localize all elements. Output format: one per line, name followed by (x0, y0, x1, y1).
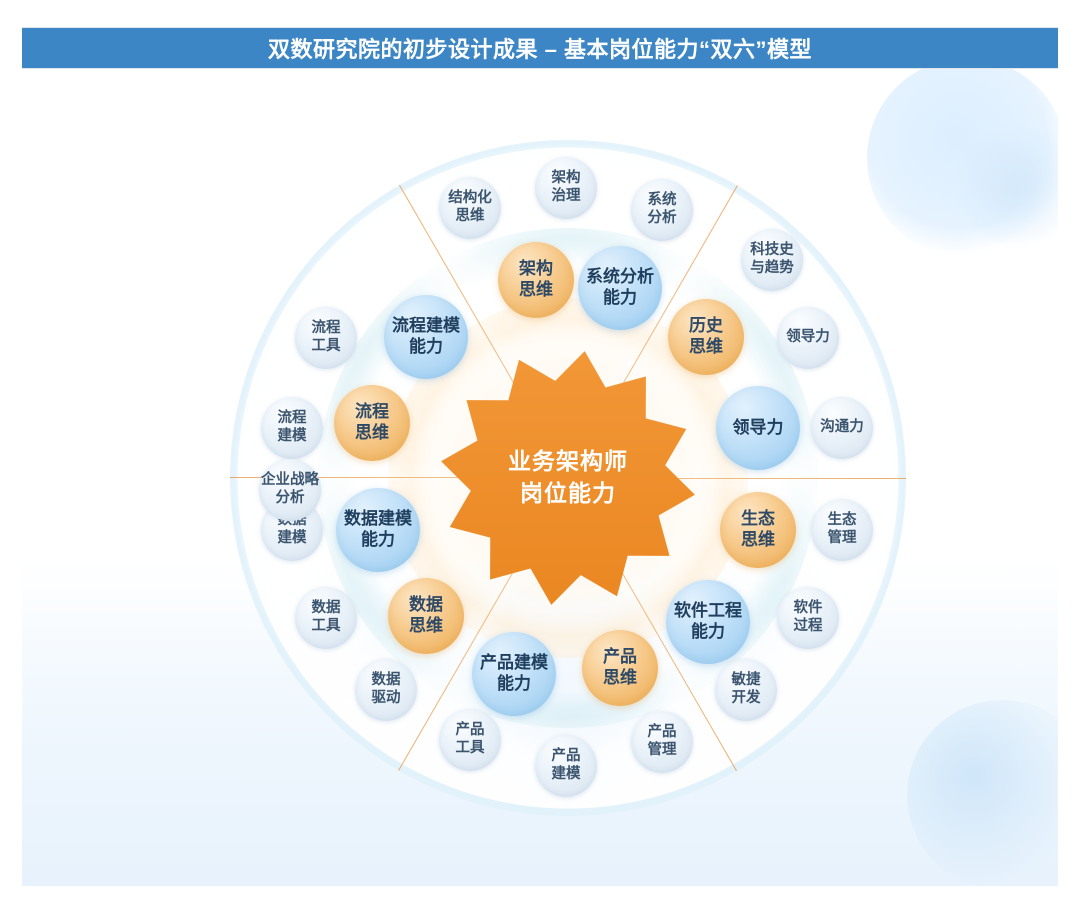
mind-bubble-6[interactable]: 流程 思维 (334, 385, 410, 461)
mind-bubble-layer: 架构 思维历史 思维生态 思维产品 思维数据 思维流程 思维 (230, 140, 906, 816)
mind-bubble-4[interactable]: 产品 思维 (582, 630, 658, 706)
mind-bubble-label: 生态 思维 (739, 509, 777, 550)
six-six-model-diagram: 业务架构师 岗位能力 结构化 思维架构 治理系统 分析科技史 与趋势领导力沟通力… (230, 140, 906, 816)
mind-bubble-label: 流程 思维 (353, 402, 391, 443)
mind-bubble-2[interactable]: 历史 思维 (668, 299, 744, 375)
slide-title-bar: 双数研究院的初步设计成果 – 基本岗位能力“双六”模型 (22, 28, 1058, 68)
decorative-blob-top-right-small (952, 120, 1058, 250)
decorative-blob-bottom-right (907, 700, 1058, 886)
page-title: 双数研究院的初步设计成果 – 基本岗位能力“双六”模型 (268, 32, 812, 64)
mind-bubble-3[interactable]: 生态 思维 (720, 492, 796, 568)
mind-bubble-label: 架构 思维 (517, 259, 555, 300)
mind-bubble-5[interactable]: 数据 思维 (388, 578, 464, 654)
mind-bubble-label: 数据 思维 (407, 595, 445, 636)
mind-bubble-label: 产品 思维 (601, 647, 639, 688)
mind-bubble-1[interactable]: 架构 思维 (498, 242, 574, 318)
mind-bubble-label: 历史 思维 (687, 316, 725, 357)
slide-panel: 双数研究院的初步设计成果 – 基本岗位能力“双六”模型 (22, 0, 1058, 886)
